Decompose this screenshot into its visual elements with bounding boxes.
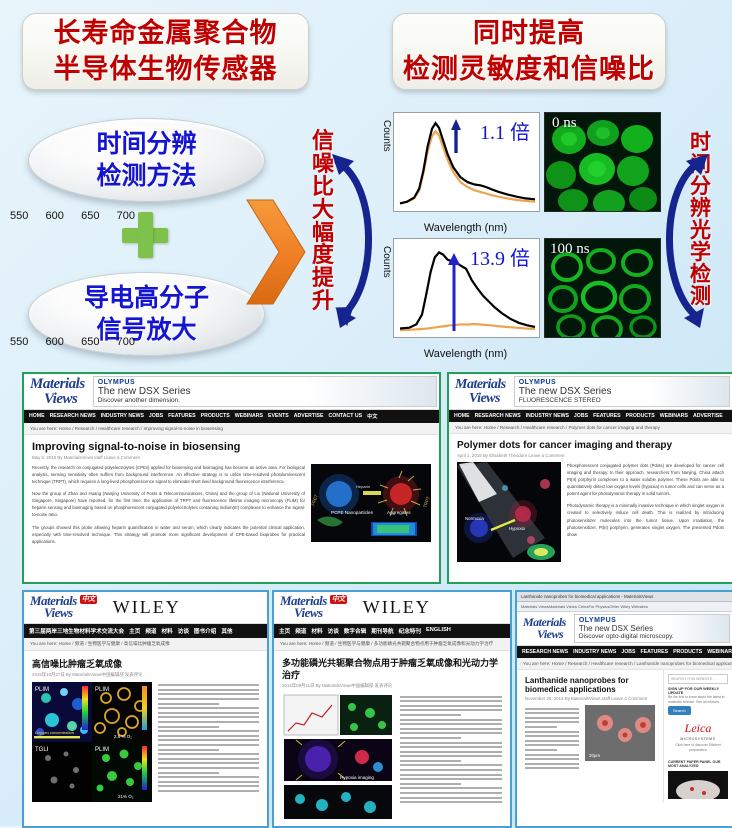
browser-title-bar: Lanthanide nanoprobes for biomedical app…: [517, 592, 732, 602]
nav-item-p1-2[interactable]: INDUSTRY NEWS: [101, 413, 144, 420]
news-panel-tumor-hypoxia-imaging[interactable]: Materials Views 中文 WILEY 第三届两岸三地生物材料学术交流…: [22, 590, 269, 828]
text-line: [400, 764, 502, 766]
breadcrumb-5: You are here: Home / Research / Healthca…: [517, 658, 732, 670]
text-line: [525, 767, 579, 769]
text-line: [158, 790, 259, 792]
text-line: [400, 769, 502, 771]
nav-item-p1-4[interactable]: FEATURES: [168, 413, 196, 420]
nav-item-p4-2[interactable]: 材料: [311, 627, 322, 635]
chart-bottom-ticks-tick-1: 600: [46, 336, 64, 348]
text-line: [158, 721, 259, 723]
svg-text:PLIM: PLIM: [35, 687, 49, 693]
text-line: [158, 749, 219, 751]
nav-item-p1-9[interactable]: CONTACT US: [328, 413, 362, 420]
text-line: [158, 772, 219, 774]
text-line: [400, 746, 502, 748]
text-line: [525, 712, 579, 714]
text-line: [400, 723, 502, 725]
title-right-line1: 同时提高: [473, 16, 585, 51]
nav-item-p1-6[interactable]: WEBINARS: [235, 413, 263, 420]
nav-bar-1[interactable]: HOMERESEARCH NEWSINDUSTRY NEWSJOBSFEATUR…: [24, 410, 439, 423]
browser-tab-p5-3[interactable]: Other Wiley Websites: [609, 604, 647, 609]
svg-text:Hypoxia: Hypoxia: [509, 526, 525, 531]
nav-item-p3-5[interactable]: 图书介绍: [194, 627, 216, 635]
nav-item-p5-5[interactable]: WEBINARS: [707, 649, 732, 655]
sidebar-thumbnail[interactable]: [668, 771, 728, 799]
nav-item-p5-2[interactable]: JOBS: [621, 649, 635, 655]
nav-item-p5-4[interactable]: PRODUCTS: [673, 649, 702, 655]
chinese-badge-3: 中文: [80, 595, 97, 604]
nav-item-p2-5[interactable]: PRODUCTS: [626, 413, 655, 419]
oval-top-line2: 检测方法: [96, 160, 196, 192]
micrograph-0ns-label: 0 ns: [552, 115, 577, 132]
text-line: [400, 778, 502, 780]
text-line: [158, 689, 259, 691]
text-line: [400, 719, 502, 721]
title-box-left: 长寿命金属聚合物 半导体生物传感器: [22, 13, 309, 90]
nav-bar-2[interactable]: HOMERESEARCH NEWSINDUSTRY NEWSJOBSFEATUR…: [449, 410, 732, 422]
text-line: [525, 731, 579, 733]
text-line: [400, 714, 461, 716]
text-line: [400, 774, 502, 776]
text-line: [525, 721, 579, 723]
nav-item-p1-5[interactable]: PRODUCTS: [201, 413, 230, 420]
browser-tab-p5-2[interactable]: For Physics: [588, 604, 609, 609]
text-line: [158, 758, 259, 760]
article-meta-5: November 20, 2014 By MaterialsViews staf…: [517, 696, 663, 705]
title-left-line2: 半导体生物传感器: [54, 52, 278, 87]
nav-item-p4-6[interactable]: 纪念特刊: [399, 627, 421, 635]
article-text-3: [158, 682, 259, 802]
nav-item-p3-0[interactable]: 第三届两岸三地生物材料学术交流大会: [29, 627, 124, 635]
article-meta-4: 2015年09月11日 By MaterialsViews中国编辑部 发表评论: [274, 683, 510, 693]
cell-blob: [593, 190, 625, 211]
cell-blob: [623, 251, 651, 275]
nav-item-p4-1[interactable]: 频道: [295, 627, 306, 635]
article-meta-3: 2015年10月27日 By MaterialsViews中国编辑部 发表评论: [24, 672, 267, 682]
svg-text:20μm: 20μm: [589, 753, 600, 758]
article-title-2[interactable]: Polymer dots for cancer imaging and ther…: [449, 434, 732, 453]
chart-top-ticks-tick-1: 600: [46, 210, 64, 222]
cell-blob: [596, 127, 610, 139]
chart-top-xaxis-label: Wavelength (nm): [393, 222, 538, 234]
text-line: [400, 728, 502, 730]
site-header-3: Materials Views 中文 WILEY: [24, 592, 267, 624]
site-header-2: Materials Views OLYMPUS The new DSX Seri…: [449, 374, 732, 410]
nav-item-p3-4[interactable]: 访谈: [178, 627, 189, 635]
title-right-line2: 检测灵敏度和信噪比: [403, 52, 655, 87]
breadcrumb-2: You are here: Home / Research / Healthca…: [449, 422, 732, 434]
text-line: [158, 781, 259, 783]
cell-blob: [583, 283, 615, 311]
text-line: [158, 776, 259, 778]
site-header-5: Materials Views OLYMPUS The new DSX Seri…: [517, 612, 732, 646]
text-line: [158, 703, 219, 705]
nav-bar-3[interactable]: 第三届两岸三地生物材料学术交流大会主页频道材料访谈图书介绍其他: [24, 624, 267, 638]
nav-item-p1-0[interactable]: HOME: [29, 413, 45, 420]
news-panel-polymer-dots[interactable]: Materials Views OLYMPUS The new DSX Seri…: [447, 372, 732, 584]
leica-promo-text[interactable]: Click here to discover Efficient prepara…: [668, 743, 728, 754]
cell-blob: [621, 286, 649, 312]
chart-bottom-ticks-tick-0: 550: [10, 336, 28, 348]
chart-bottom-ticks-tick-3: 700: [117, 336, 135, 348]
text-line: [400, 732, 502, 734]
breadcrumb-4: You are here: Home / 频道 / 生物医学与健康 / 多功能磷…: [274, 638, 510, 651]
breadcrumb-1: You are here: Home / Research / Healthca…: [24, 423, 439, 435]
text-line: [525, 735, 579, 737]
olympus-ad-banner[interactable]: OLYMPUS The new DSX Series Discover anot…: [93, 376, 437, 407]
cell-blob: [561, 132, 577, 146]
article-figure-1: PCPE Nanoparticles Aggregates FRET TRPT …: [311, 464, 431, 542]
oval-time-resolved-method: 时间分辨 检测方法: [28, 118, 265, 202]
article-text-1: Recently, the research on conjugated pol…: [32, 464, 305, 545]
browser-tabrow[interactable]: Materials ViewsMaterials Views ChinaFor …: [517, 602, 732, 612]
svg-text:2.5 % O₂: 2.5 % O₂: [114, 734, 132, 739]
article-body-1: Recently, the research on conjugated pol…: [24, 464, 439, 550]
article-body-2: Normoxia Hypoxia Phosphorescent conjugat…: [449, 462, 732, 567]
site-header-4: Materials Views 中文 WILEY: [274, 592, 510, 624]
browser-tab-p5-1[interactable]: Materials Views China: [549, 604, 589, 609]
chinese-badge-4: 中文: [330, 595, 347, 604]
cell-blob: [558, 316, 584, 337]
micrograph-100ns-label: 100 ns: [550, 241, 590, 258]
chart-top-ticks-tick-2: 650: [81, 210, 99, 222]
svg-text:21% O₂: 21% O₂: [118, 794, 134, 799]
chart-bottom-xticks: 550600650700: [0, 336, 145, 348]
signup-heading-5: SIGN UP FOR OUR WEEKLY UPDATE: [668, 687, 728, 695]
text-line: [400, 742, 502, 744]
text-line: [400, 792, 502, 794]
text-line: [158, 767, 259, 769]
chart-bottom-xaxis-label: Wavelength (nm): [393, 348, 538, 360]
article-figure-2: Normoxia Hypoxia: [457, 462, 561, 562]
text-line: [400, 755, 502, 757]
nav-item-p2-7[interactable]: ADVERTISE: [693, 413, 723, 419]
leica-logo: Leica: [668, 721, 728, 736]
nav-item-p5-3[interactable]: FEATURES: [641, 649, 669, 655]
nav-item-p3-1[interactable]: 主页: [129, 627, 140, 635]
cell-blob: [631, 317, 655, 337]
cell-blob: [546, 161, 576, 189]
svg-text:Heparin: Heparin: [356, 484, 370, 489]
text-line: [158, 785, 259, 787]
leica-sublabel: MICROSYSTEMS: [668, 737, 728, 741]
article-figure-5: 20μm: [585, 705, 655, 761]
article-text-4: [400, 693, 502, 821]
article-body-4: Hypoxia imaging: [274, 693, 510, 826]
materials-views-logo-2[interactable]: Materials Views: [449, 375, 512, 408]
materials-views-logo[interactable]: Materials Views: [24, 374, 91, 409]
text-line: [400, 797, 502, 799]
browser-tab-p5-0[interactable]: Materials Views: [521, 604, 549, 609]
svg-text:Hypoxia imaging: Hypoxia imaging: [340, 775, 374, 780]
article-figure-4: Hypoxia imaging: [282, 693, 394, 821]
text-line: [400, 709, 502, 711]
text-line: [158, 744, 259, 746]
article-figure-3: PLIM PLIM 2.5 % O₂ TGLI: [32, 682, 152, 802]
text-line: [400, 696, 502, 698]
chart-bottom-ticks-tick-2: 650: [81, 336, 99, 348]
text-line: [158, 762, 259, 764]
article-meta-1: May 6, 2015 By MaterialsViews staff Leav…: [24, 455, 439, 464]
title-left-line1: 长寿命金属聚合物: [54, 16, 278, 51]
chart-top-ticks-tick-3: 700: [117, 210, 135, 222]
article-title-1[interactable]: Improving signal-to-noise in biosensing: [24, 435, 439, 455]
article-title-3[interactable]: 高信噪比肿瘤乏氧成像: [24, 651, 267, 672]
signup-text-5: Be the first to know about the latest in…: [668, 695, 728, 706]
chart-top-ticks-tick-0: 550: [10, 210, 28, 222]
text-line: [525, 763, 579, 765]
nav-item-p4-5[interactable]: 期刊导航: [371, 627, 393, 635]
nav-item-p3-3[interactable]: 材料: [162, 627, 173, 635]
svg-text:PLIM: PLIM: [95, 747, 109, 753]
article-title-5[interactable]: Lanthanide nanoprobes for biomedical app…: [517, 670, 663, 696]
nav-item-p1-7[interactable]: EVENTS: [268, 413, 289, 420]
cell-blob: [588, 161, 606, 177]
materials-views-logo-4[interactable]: Materials Views 中文: [274, 592, 353, 623]
text-line: [158, 730, 259, 732]
news-panel-multifunctional-pdots[interactable]: Materials Views 中文 WILEY 主页频道材料访谈数字合辑期刊导…: [272, 590, 512, 828]
search-input-5[interactable]: SEARCH THIS WEBSITE …: [668, 674, 728, 684]
text-line: [400, 801, 502, 803]
article-meta-2: April 1, 2015 By Elisabeth Theodore Leav…: [449, 453, 732, 462]
site-header: Materials Views OLYMPUS The new DSX Seri…: [24, 374, 439, 410]
text-line: [400, 751, 502, 753]
nav-item-p1-8[interactable]: ADVERTISE: [294, 413, 324, 420]
text-line: [525, 754, 579, 756]
text-line: [158, 707, 259, 709]
text-line: [158, 716, 259, 718]
nav-item-p2-3[interactable]: JOBS: [574, 413, 588, 419]
svg-text:TGLI: TGLI: [35, 747, 49, 753]
text-line: [400, 787, 502, 789]
olympus-ad-banner-2[interactable]: OLYMPUS The new DSX Series FLUORESCENCE …: [514, 376, 730, 407]
cell-blob: [629, 187, 657, 211]
wiley-logo-3: WILEY: [113, 597, 181, 618]
enhancement-factor-top: 1.1 倍: [480, 116, 530, 145]
nav-item-p2-2[interactable]: INDUSTRY NEWS: [526, 413, 569, 419]
nav-item-p4-4[interactable]: 数字合辑: [344, 627, 366, 635]
breadcrumb-3: You are here: Home / 频道 / 生物医学与健康 / 高信噪比…: [24, 638, 267, 651]
text-line: [525, 708, 579, 710]
nav-item-p4-0[interactable]: 主页: [279, 627, 290, 635]
nav-item-p1-10[interactable]: 中文: [367, 413, 377, 420]
sidebar-panel-heading: CURRENT PAPER PANEL OUR MOST ANALYZED: [668, 760, 728, 768]
oval-top-line1: 时间分辨: [96, 128, 196, 160]
article-title-4[interactable]: 多功能磷光共轭聚合物点用于肿瘤乏氧成像和光动力学治疗: [274, 651, 510, 683]
cell-blob: [617, 156, 649, 186]
text-line: [158, 726, 219, 728]
olympus-ad-banner-5[interactable]: OLYMPUS The new DSX Series Discover opto…: [574, 614, 730, 643]
text-line: [158, 712, 259, 714]
enhancement-factor-bottom: 13.9 倍: [470, 242, 530, 271]
text-line: [525, 717, 579, 719]
cell-blob: [550, 287, 576, 311]
svg-text:PLIM: PLIM: [95, 687, 109, 693]
text-line: [525, 758, 579, 760]
news-panel-signal-to-noise[interactable]: Materials Views OLYMPUS The new DSX Seri…: [22, 372, 441, 584]
sidebar-5: SEARCH THIS WEBSITE … SIGN UP FOR OUR WE…: [663, 670, 732, 803]
text-line: [158, 753, 259, 755]
infographic-canvas: 长寿命金属聚合物 半导体生物传感器 同时提高 检测灵敏度和信噪比 时间分辨 检测…: [0, 0, 732, 826]
nav-item-p2-6[interactable]: WEBINARS: [660, 413, 688, 419]
nav-item-p5-0[interactable]: RESEARCH NEWS: [522, 649, 568, 655]
svg-text:Aggregates: Aggregates: [387, 510, 411, 515]
chart-bottom-yaxis-label: Counts: [381, 246, 392, 278]
svg-text:Oxygen concentration: Oxygen concentration: [35, 730, 74, 735]
text-line: [158, 693, 259, 695]
text-line: [400, 783, 461, 785]
chart-top-yaxis-label: Counts: [381, 120, 392, 152]
nav-bar-4[interactable]: 主页频道材料访谈数字合辑期刊导航纪念特刊ENGLISH: [274, 624, 510, 638]
text-line: [158, 698, 259, 700]
svg-text:PCPE Nanoparticles: PCPE Nanoparticles: [331, 510, 374, 515]
text-line: [400, 737, 461, 739]
wiley-logo-4: WILEY: [363, 597, 431, 618]
article-text-2: Phosphorescent conjugated polymer dots (…: [567, 462, 724, 562]
oval-bottom-line1: 导电高分子: [84, 282, 209, 314]
text-line: [525, 744, 579, 746]
nav-item-p1-3[interactable]: JOBS: [149, 413, 163, 420]
text-line: [158, 684, 259, 686]
svg-text:Normoxia: Normoxia: [465, 516, 484, 521]
curved-arrow-icon-left: [330, 128, 400, 343]
text-line: [400, 700, 502, 702]
cell-blob: [588, 250, 614, 272]
materials-views-logo-3[interactable]: Materials Views 中文: [24, 592, 103, 623]
nav-item-p2-0[interactable]: HOME: [454, 413, 470, 419]
cell-blob: [593, 317, 621, 337]
chevron-right-arrow-icon: [243, 198, 309, 306]
article-body-3: PLIM PLIM 2.5 % O₂ TGLI: [24, 682, 267, 807]
text-line: [158, 735, 259, 737]
cell-blob: [558, 189, 588, 211]
article-text-5: [525, 705, 579, 772]
nav-item-p4-3[interactable]: 访谈: [328, 627, 339, 635]
nav-item-p3-6[interactable]: 其他: [221, 627, 232, 635]
text-line: [525, 726, 557, 728]
article-body-5: 20μm: [517, 705, 663, 777]
text-line: [400, 760, 461, 762]
chart-top-xticks: 550600650700: [0, 210, 145, 222]
nav-item-p2-1[interactable]: RESEARCH NEWS: [475, 413, 521, 419]
nav-item-p4-7[interactable]: ENGLISH: [426, 627, 451, 635]
text-line: [400, 705, 502, 707]
nav-item-p1-1[interactable]: RESEARCH NEWS: [50, 413, 96, 420]
text-line: [525, 749, 557, 751]
text-line: [158, 739, 259, 741]
nav-bar-5[interactable]: RESEARCH NEWSINDUSTRY NEWSJOBSFEATURESPR…: [517, 646, 732, 658]
cell-blob: [621, 125, 653, 153]
search-button-5[interactable]: Search: [668, 706, 691, 715]
nav-item-p2-4[interactable]: FEATURES: [593, 413, 621, 419]
news-panel-lanthanide-nanoprobes[interactable]: Lanthanide nanoprobes for biomedical app…: [515, 590, 732, 828]
nav-item-p3-2[interactable]: 频道: [145, 627, 156, 635]
nav-item-p5-1[interactable]: INDUSTRY NEWS: [573, 649, 616, 655]
title-box-right: 同时提高 检测灵敏度和信噪比: [392, 13, 666, 90]
text-line: [525, 740, 579, 742]
materials-views-logo-5[interactable]: Materials Views: [517, 614, 572, 643]
